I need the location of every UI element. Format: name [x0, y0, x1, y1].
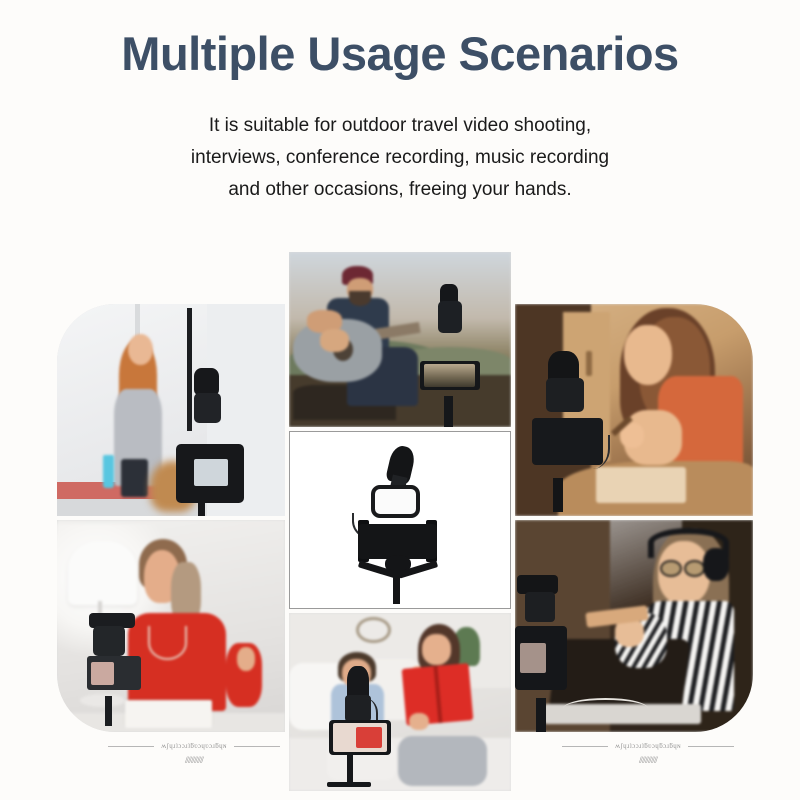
watermark-right-bars: ⫽⫽⫽⫽⫽⫽ [533, 755, 763, 766]
collage-photo-guitar [289, 252, 511, 427]
page-subtitle: It is suitable for outdoor travel video … [100, 110, 700, 206]
collage-photo-product [289, 431, 511, 609]
collage-photo-desk-lamp [57, 520, 285, 732]
collage-photo-craft [515, 304, 753, 516]
watermark-left-bars: ⫽⫽⫽⫽⫽⫽ [79, 755, 309, 766]
collage-photo-sofa [289, 613, 511, 791]
subtitle-line-2: interviews, conference recording, music … [100, 142, 700, 174]
photo-collage [57, 252, 757, 752]
watermark-left-text: ʍʃɥɹʇɔɔɹʇƃʋɔɥʋɔɹƃɥɴ [79, 742, 309, 750]
subtitle-line-3: and other occasions, freeing your hands. [100, 174, 700, 206]
collage-photo-office [57, 304, 285, 516]
watermark-left: ʍʃɥɹʇɔɔɹʇƃʋɔɥʋɔɹƃɥɴ ⫽⫽⫽⫽⫽⫽ [79, 742, 309, 766]
phone-holder-icon [358, 524, 437, 559]
collage-photo-podcast [515, 520, 753, 732]
tripod-icon [393, 566, 400, 605]
page-title: Multiple Usage Scenarios [0, 26, 800, 81]
watermark-right-text: ʍʃɥɹʇɔɔɹʇƃʋɔɥƃɔɹƃɥɴ [533, 742, 763, 750]
subtitle-line-1: It is suitable for outdoor travel video … [100, 110, 700, 142]
watermark-right: ʍʃɥɹʇɔɔɹʇƃʋɔɥƃɔɹƃɥɴ ⫽⫽⫽⫽⫽⫽ [533, 742, 763, 766]
